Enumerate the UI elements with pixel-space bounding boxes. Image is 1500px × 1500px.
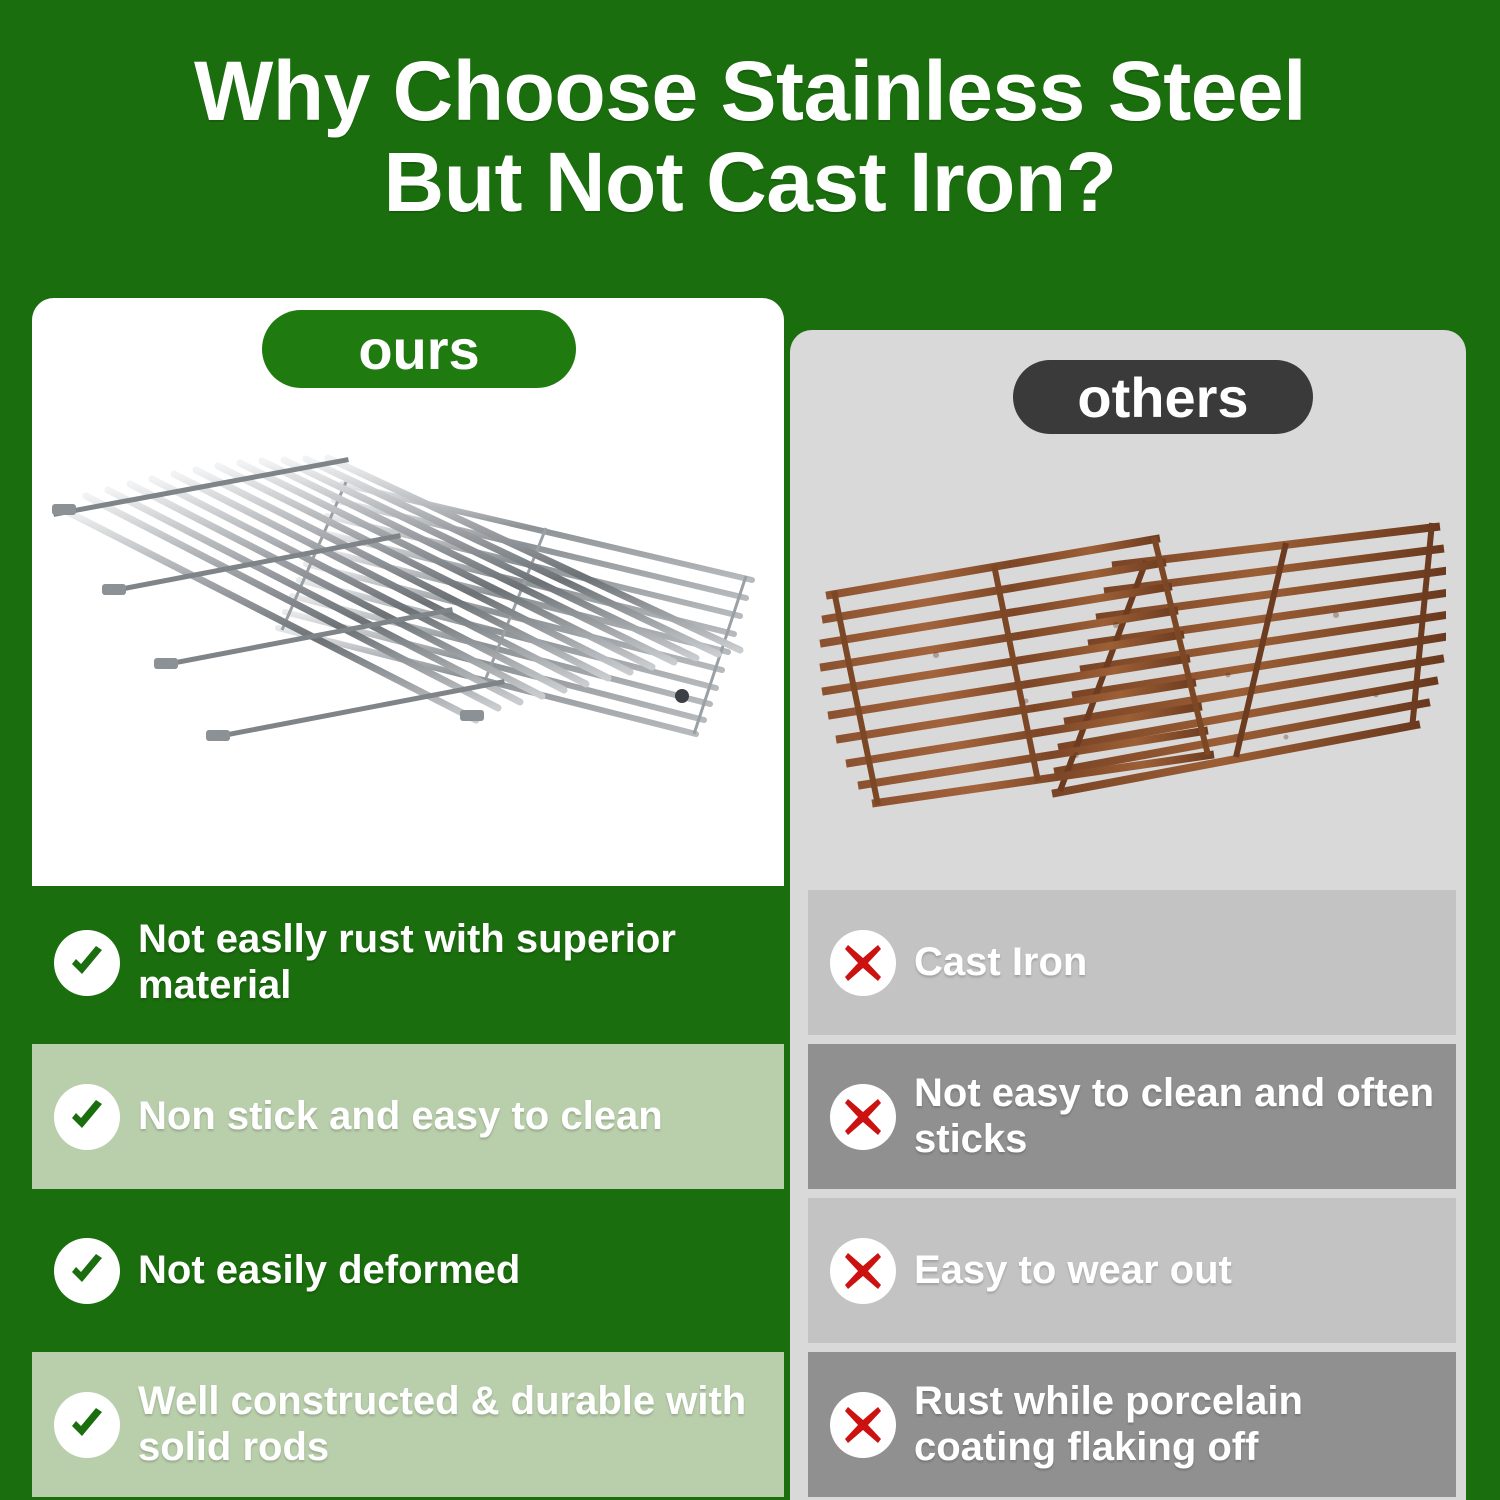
- check-icon: [54, 1084, 120, 1150]
- title-line-1: Why Choose Stainless Steel: [0, 46, 1500, 137]
- cross-icon: [830, 1392, 896, 1458]
- list-item: Not easy to clean and often sticks: [808, 1044, 1456, 1189]
- others-product-image: [816, 505, 1446, 815]
- ours-feature-list: Not easlly rust with superior material N…: [32, 890, 784, 1500]
- badge-others: others: [1013, 360, 1313, 434]
- cross-icon: [830, 930, 896, 996]
- list-item: Well constructed & durable with solid ro…: [32, 1352, 784, 1497]
- cross-icon: [830, 1238, 896, 1304]
- list-item: Cast Iron: [808, 890, 1456, 1035]
- list-item: Easy to wear out: [808, 1198, 1456, 1343]
- feature-text: Easy to wear out: [914, 1248, 1232, 1294]
- ours-product-image: [46, 452, 770, 782]
- cross-icon: [830, 1084, 896, 1150]
- list-item: Rust while porcelain coating flaking off: [808, 1352, 1456, 1497]
- others-feature-list: Cast Iron Not easy to clean and often st…: [808, 890, 1456, 1500]
- feature-text: Not easily deformed: [138, 1248, 520, 1294]
- check-icon: [54, 1238, 120, 1304]
- list-item: Non stick and easy to clean: [32, 1044, 784, 1189]
- badge-ours-label: ours: [358, 317, 479, 382]
- list-item: Not easily deformed: [32, 1198, 784, 1343]
- feature-text: Non stick and easy to clean: [138, 1094, 663, 1140]
- feature-text: Not easlly rust with superior material: [138, 917, 738, 1008]
- feature-text: Well constructed & durable with solid ro…: [138, 1379, 758, 1470]
- feature-text: Cast Iron: [914, 940, 1087, 986]
- feature-text: Not easy to clean and often sticks: [914, 1071, 1438, 1162]
- list-item: Not easlly rust with superior material: [32, 890, 784, 1035]
- comparison-infographic: Why Choose Stainless Steel But Not Cast …: [0, 0, 1500, 1500]
- feature-text: Rust while porcelain coating flaking off: [914, 1379, 1438, 1470]
- badge-ours: ours: [262, 310, 576, 388]
- page-title: Why Choose Stainless Steel But Not Cast …: [0, 46, 1500, 227]
- check-icon: [54, 930, 120, 996]
- check-icon: [54, 1392, 120, 1458]
- title-line-2: But Not Cast Iron?: [0, 137, 1500, 228]
- badge-others-label: others: [1077, 365, 1248, 430]
